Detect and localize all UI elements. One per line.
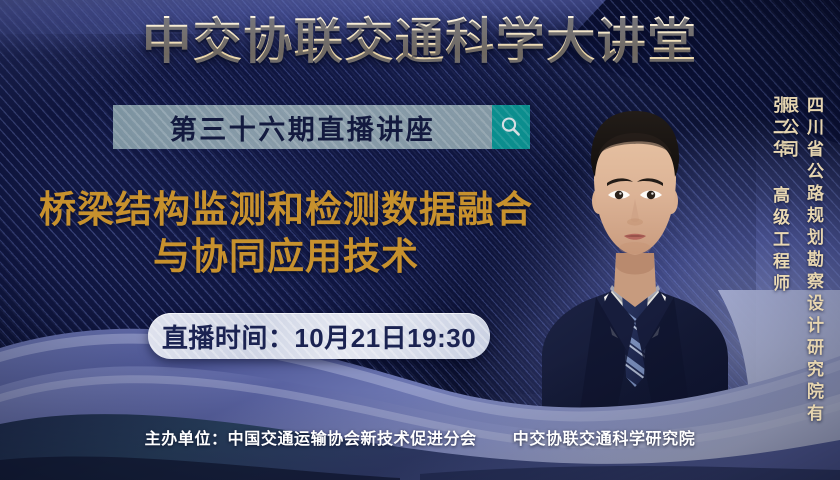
organizer-secondary: 中交协联交通科学研究院 [513,431,696,448]
speaker-organization: 四川省公路规划勘察设计研究院有限公司 [776,96,826,426]
lecture-topic-line-1: 桥梁结构监测和检测数据融合 [12,186,560,233]
search-icon [499,115,523,139]
organizer-primary: 主办单位：中国交通运输协会新技术促进分会 [145,431,477,448]
live-lecture-poster: 中交协联交通科学大讲堂 第三十六期直播讲座 桥梁结构监测和检测数据融合 与协同应… [0,0,840,480]
search-icon-box[interactable] [492,105,530,149]
broadcast-time-pill: 直播时间：10月21日19:30 [148,313,490,359]
broadcast-time-text: 直播时间：10月21日19:30 [162,318,476,355]
page-title: 中交协联交通科学大讲堂 [0,14,840,70]
lecture-topic: 桥梁结构监测和检测数据融合 与协同应用技术 [12,186,560,280]
organizer-footer: 主办单位：中国交通运输协会新技术促进分会 中交协联交通科学研究院 [0,425,840,449]
episode-banner: 第三十六期直播讲座 [113,105,530,149]
episode-label-box: 第三十六期直播讲座 [113,105,492,149]
episode-label: 第三十六期直播讲座 [170,108,436,147]
lecture-topic-line-2: 与协同应用技术 [12,233,560,280]
